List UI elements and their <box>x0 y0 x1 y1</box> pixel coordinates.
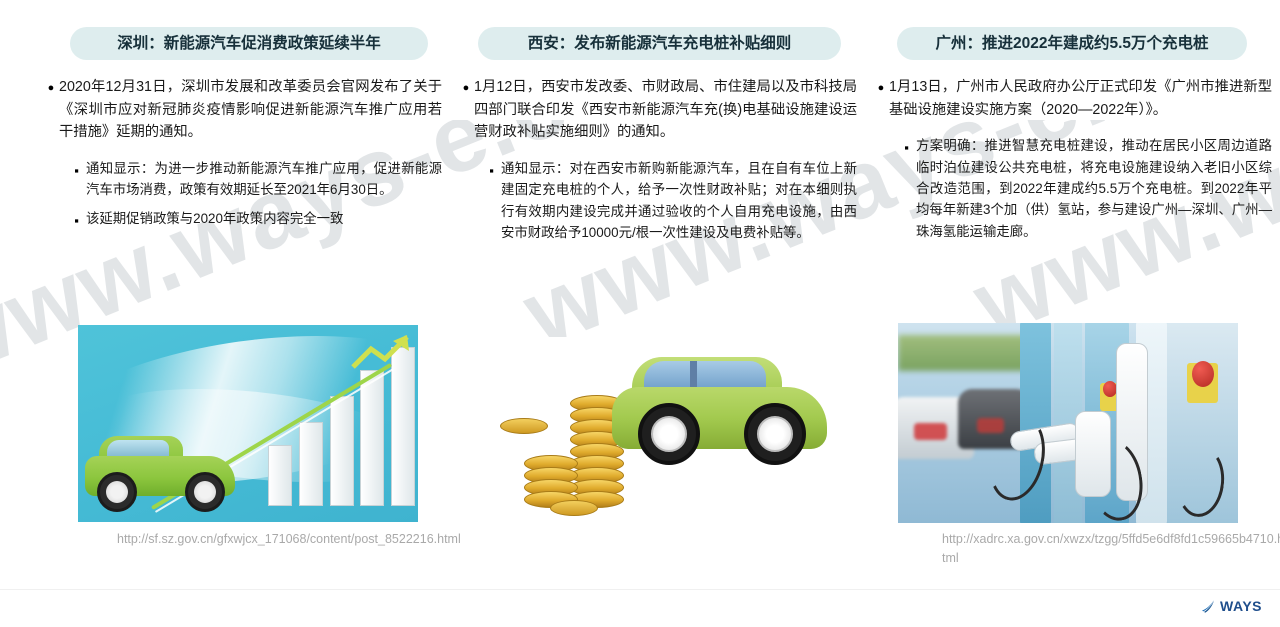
ways-logo: WAYS <box>1200 598 1262 614</box>
sub-bullet-list: ▪ 方案明确：推进智慧充电桩建设，推动在居民小区周边道路临时泊位建设公共充电桩，… <box>875 135 1272 242</box>
sub-bullet-item: ▪ 该延期促销政策与2020年政策内容完全一致 <box>45 208 442 229</box>
bullet-text: 2020年12月31日，深圳市发展和改革委员会官网发布了关于《深圳市应对新冠肺炎… <box>59 76 442 144</box>
column-body-guangzhou: ● 1月13日，广州市人民政府办公厅正式印发《广州市推进新型基础设施建设实施方案… <box>875 76 1280 242</box>
green-car-rising-bar-chart-image <box>78 325 418 522</box>
bullet-text: 1月13日，广州市人民政府办公厅正式印发《广州市推进新型基础设施建设实施方案（2… <box>889 76 1272 121</box>
sub-bullet-list: ▪ 通知显示：为进一步推动新能源汽车推广应用，促进新能源汽车市场消费，政策有效期… <box>45 158 442 229</box>
coins-arrow-green-car-image <box>490 337 835 522</box>
sub-bullet-dot-icon: ▪ <box>486 164 497 177</box>
sub-bullet-item: ▪ 通知显示：对在西安市新购新能源汽车，且在自有车位上新建固定充电桩的个人，给予… <box>460 158 857 244</box>
green-car-graphic <box>612 343 827 471</box>
sub-bullet-text: 方案明确：推进智慧充电桩建设，推动在居民小区周边道路临时泊位建设公共充电桩，将充… <box>916 135 1272 242</box>
slide-footer: WAYS <box>0 589 1280 627</box>
column-header-guangzhou: 广州：推进2022年建成约5.5万个充电桩 <box>897 27 1247 60</box>
column-xian: 西安：发布新能源汽车充电桩补贴细则 ● 1月12日，西安市发改委、市财政局、市住… <box>460 0 865 590</box>
columns-container: 深圳：新能源汽车促消费政策延续半年 ● 2020年12月31日，深圳市发展和改革… <box>0 0 1280 590</box>
bullet-dot-icon: ● <box>875 83 887 94</box>
sub-bullet-item: ▪ 通知显示：为进一步推动新能源汽车推广应用，促进新能源汽车市场消费，政策有效期… <box>45 158 442 201</box>
column-header-label: 西安：发布新能源汽车充电桩补贴细则 <box>528 36 792 52</box>
column-body-shenzhen: ● 2020年12月31日，深圳市发展和改革委员会官网发布了关于《深圳市应对新冠… <box>45 76 450 229</box>
source-url-shenzhen[interactable]: http://sf.sz.gov.cn/gfxwjcx_171068/conte… <box>117 530 465 549</box>
slide-canvas: www.ways-e.com www.ways-e.com www.ways-e… <box>0 0 1280 627</box>
bullet-item: ● 1月13日，广州市人民政府办公厅正式印发《广州市推进新型基础设施建设实施方案… <box>875 76 1272 121</box>
upward-arrow-icon <box>351 333 411 373</box>
column-shenzhen: 深圳：新能源汽车促消费政策延续半年 ● 2020年12月31日，深圳市发展和改革… <box>45 0 450 590</box>
bullet-dot-icon: ● <box>45 83 57 94</box>
column-header-label: 深圳：新能源汽车促消费政策延续半年 <box>117 36 381 52</box>
sub-bullet-text: 通知显示：对在西安市新购新能源汽车，且在自有车位上新建固定充电桩的个人，给予一次… <box>501 158 857 244</box>
sub-bullet-text: 通知显示：为进一步推动新能源汽车推广应用，促进新能源汽车市场消费，政策有效期延长… <box>86 158 442 201</box>
bullet-item: ● 1月12日，西安市发改委、市财政局、市住建局以及市科技局四部门联合印发《西安… <box>460 76 857 144</box>
bullet-item: ● 2020年12月31日，深圳市发展和改革委员会官网发布了关于《深圳市应对新冠… <box>45 76 442 144</box>
ev-charging-stations-image <box>898 323 1238 523</box>
ways-logo-text: WAYS <box>1220 598 1262 614</box>
ways-logo-mark-icon <box>1200 598 1216 614</box>
sub-bullet-text: 该延期促销政策与2020年政策内容完全一致 <box>86 208 442 229</box>
column-body-xian: ● 1月12日，西安市发改委、市财政局、市住建局以及市科技局四部门联合印发《西安… <box>460 76 865 243</box>
green-car-graphic <box>85 438 235 510</box>
column-header-shenzhen: 深圳：新能源汽车促消费政策延续半年 <box>70 27 428 60</box>
bullet-dot-icon: ● <box>460 83 472 94</box>
bullet-text: 1月12日，西安市发改委、市财政局、市住建局以及市科技局四部门联合印发《西安市新… <box>474 76 857 144</box>
sub-bullet-dot-icon: ▪ <box>901 141 912 154</box>
column-guangzhou: 广州：推进2022年建成约5.5万个充电桩 ● 1月13日，广州市人民政府办公厅… <box>875 0 1280 590</box>
sub-bullet-dot-icon: ▪ <box>71 214 82 227</box>
sub-bullet-item: ▪ 方案明确：推进智慧充电桩建设，推动在居民小区周边道路临时泊位建设公共充电桩，… <box>875 135 1272 242</box>
column-header-xian: 西安：发布新能源汽车充电桩补贴细则 <box>478 27 841 60</box>
sub-bullet-dot-icon: ▪ <box>71 164 82 177</box>
column-header-label: 广州：推进2022年建成约5.5万个充电桩 <box>935 36 1208 52</box>
sub-bullet-list: ▪ 通知显示：对在西安市新购新能源汽车，且在自有车位上新建固定充电桩的个人，给予… <box>460 158 857 244</box>
